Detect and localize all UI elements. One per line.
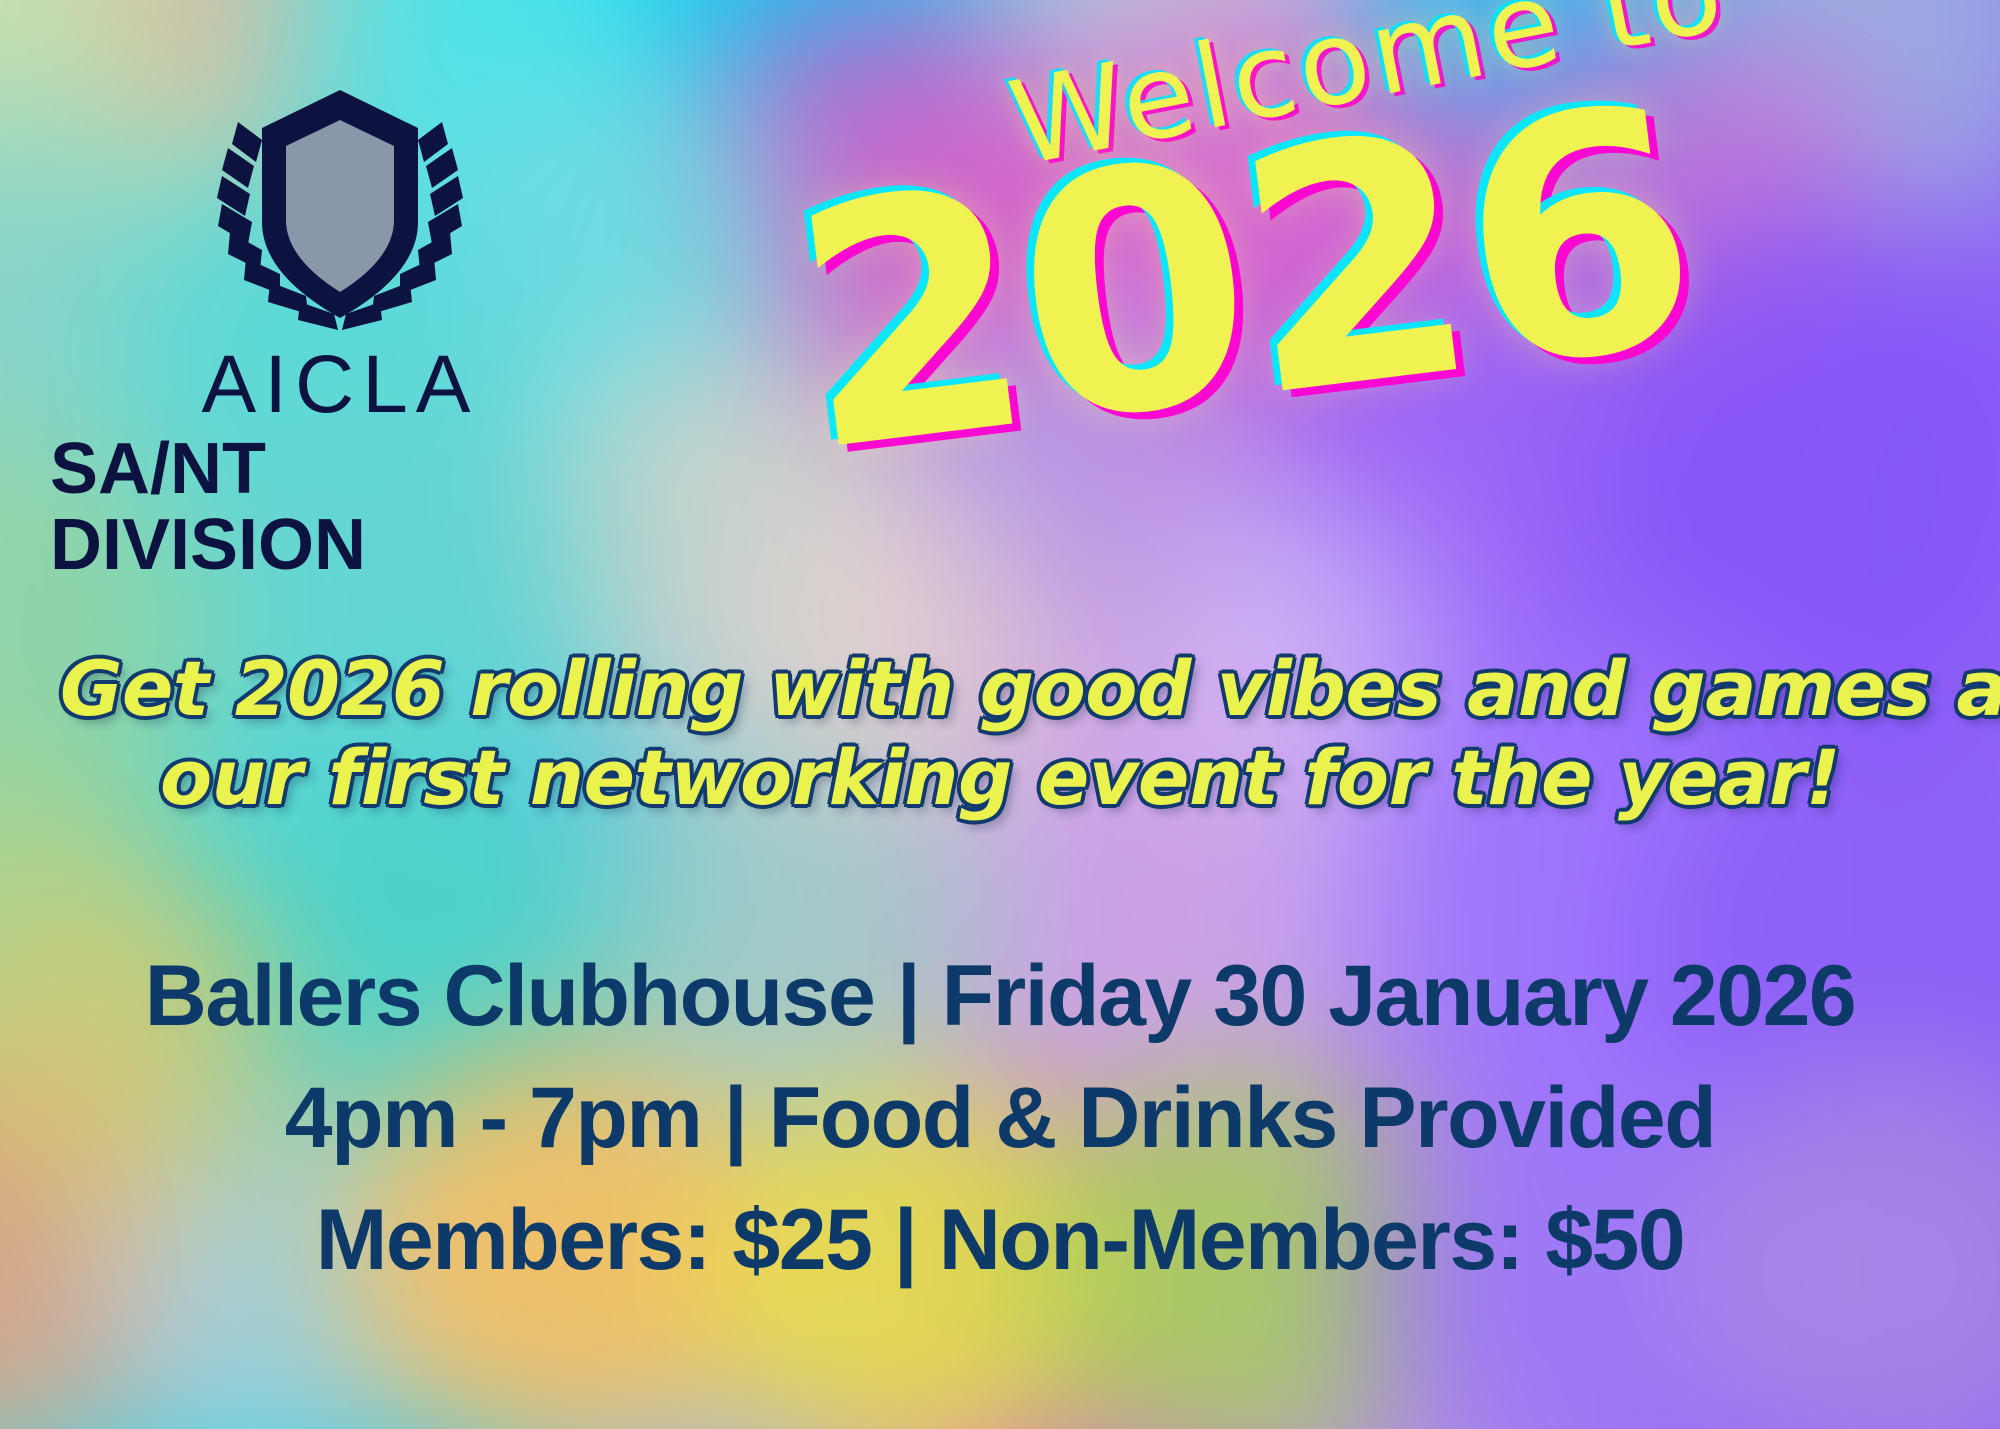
logo-wordmark: AICLA bbox=[110, 344, 570, 426]
headline-year-text: 2026 bbox=[780, 71, 1706, 491]
detail-venue-date: Ballers Clubhouse | Friday 30 January 20… bbox=[40, 935, 1960, 1057]
shield-with-laurel-wreath-icon bbox=[180, 70, 500, 340]
tagline-line-2: our first networking event for the year! bbox=[60, 734, 1940, 823]
detail-time-catering: 4pm - 7pm | Food & Drinks Provided bbox=[40, 1057, 1960, 1179]
aicla-logo: AICLA SA/NT DIVISION bbox=[110, 70, 570, 583]
tagline-block: Get 2026 rolling with good vibes and gam… bbox=[60, 645, 1940, 823]
event-details-block: Ballers Clubhouse | Friday 30 January 20… bbox=[40, 935, 1960, 1301]
event-poster: AICLA SA/NT DIVISION Welcome to 2026 Get… bbox=[0, 0, 2000, 1429]
headline-year: 2026 bbox=[780, 71, 1706, 491]
tagline-line-1: Get 2026 rolling with good vibes and gam… bbox=[60, 645, 1940, 734]
logo-division-label: SA/NT DIVISION bbox=[50, 432, 570, 583]
detail-pricing: Members: $25 | Non-Members: $50 bbox=[40, 1179, 1960, 1301]
